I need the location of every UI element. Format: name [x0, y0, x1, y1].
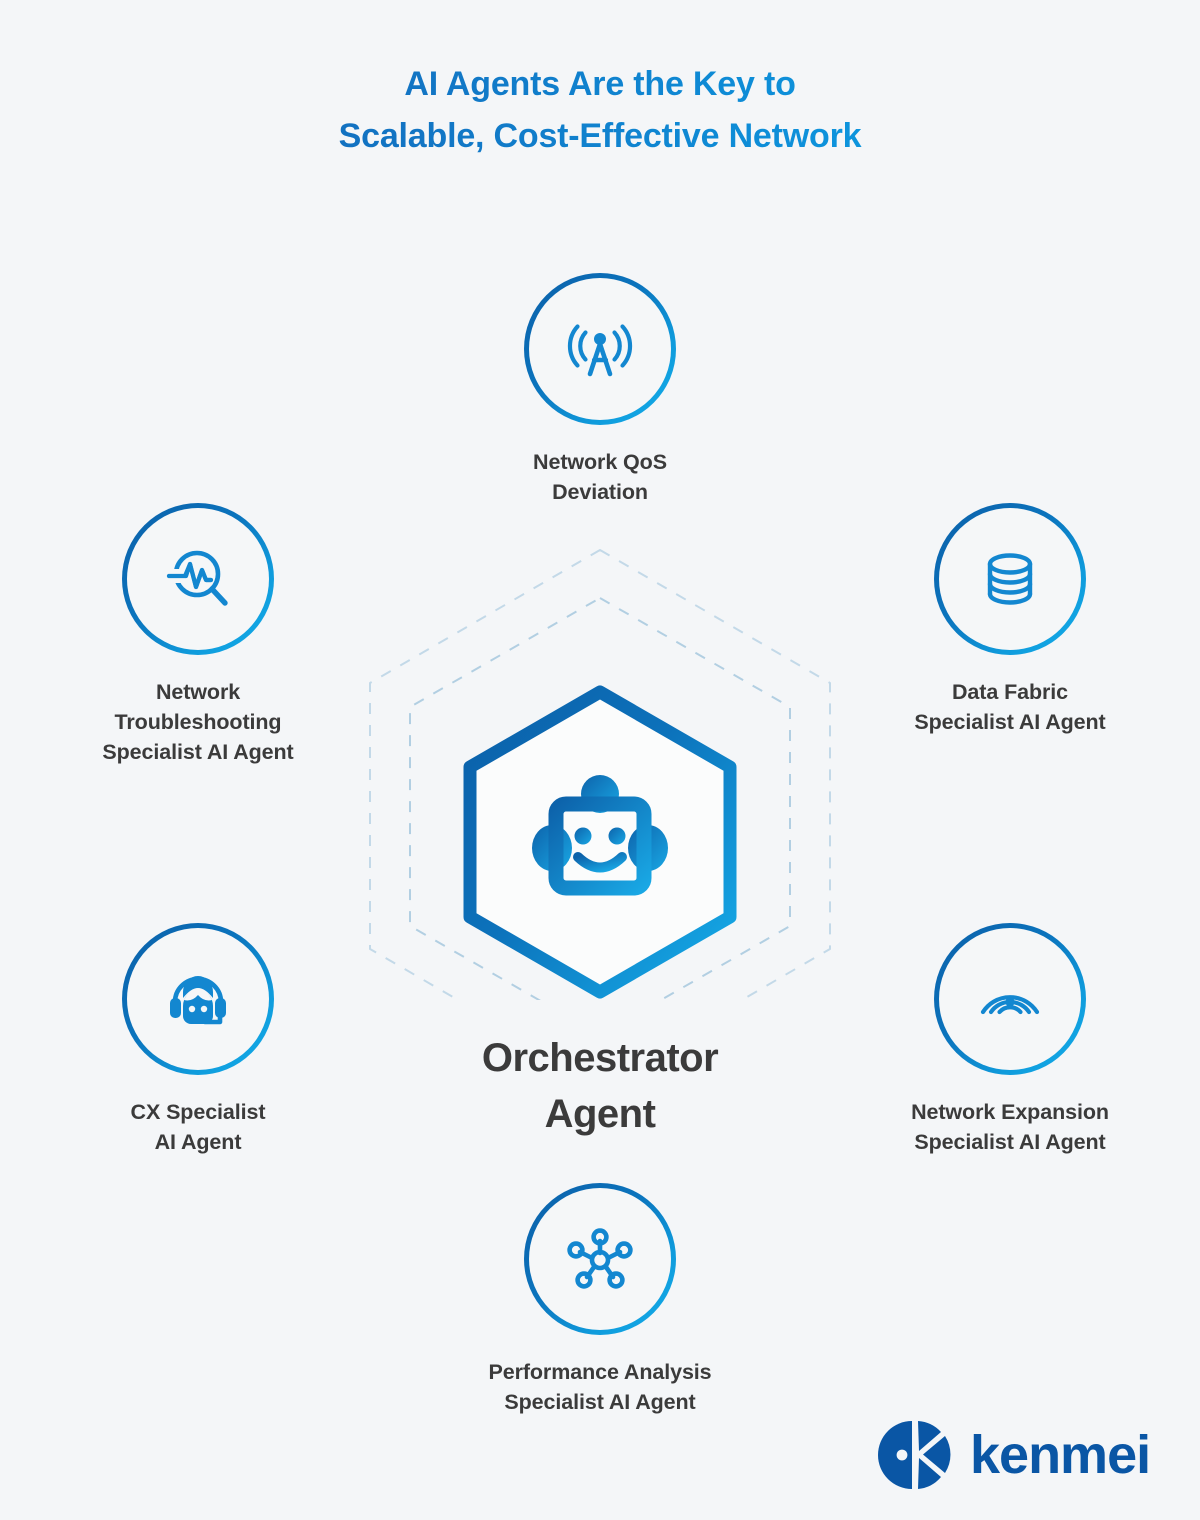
- database-icon: [973, 542, 1047, 616]
- node-label-line-2: Deviation: [440, 477, 760, 507]
- node-label-line-1: Network QoS: [440, 447, 760, 477]
- node-icon-ring: [934, 923, 1086, 1075]
- node-icon-ring: [122, 503, 274, 655]
- orchestrator-hexagon: [470, 692, 730, 992]
- node-label-line-1: Performance Analysis: [440, 1357, 760, 1387]
- node-label-line-1: Data Fabric: [850, 677, 1170, 707]
- node-cx-specialist-ai-agent[interactable]: CX Specialist AI Agent: [38, 923, 358, 1157]
- brand-name: kenmei: [970, 1428, 1150, 1482]
- broadcast-tower-icon: [563, 312, 637, 386]
- node-network-troubleshooting-specialist-ai-agent[interactable]: Network Troubleshooting Specialist AI Ag…: [38, 503, 358, 767]
- network-hub-icon: [563, 1222, 637, 1296]
- orchestrator-agent-label-line-2: Agent: [300, 1086, 900, 1142]
- agent-architecture-diagram: Orchestrator Agent Network Qo: [0, 0, 1200, 1520]
- node-label-line-2: Specialist AI Agent: [850, 707, 1170, 737]
- node-label-line-2: AI Agent: [38, 1127, 358, 1157]
- magnifier-pulse-icon: [161, 542, 235, 616]
- brand-logo: kenmei: [878, 1418, 1150, 1492]
- node-label: Network QoS Deviation: [440, 447, 760, 507]
- node-label: Network Troubleshooting Specialist AI Ag…: [38, 677, 358, 767]
- kenmei-k-mark-icon: [878, 1418, 952, 1492]
- orchestrator-agent-node[interactable]: [330, 530, 870, 1000]
- node-label-line-1: CX Specialist: [38, 1097, 358, 1127]
- signal-waves-icon: [973, 962, 1047, 1036]
- node-network-qos-deviation[interactable]: Network QoS Deviation: [440, 273, 760, 507]
- node-icon-ring: [934, 503, 1086, 655]
- node-label: Performance Analysis Specialist AI Agent: [440, 1357, 760, 1417]
- node-label: Network Expansion Specialist AI Agent: [850, 1097, 1170, 1157]
- node-label: Data Fabric Specialist AI Agent: [850, 677, 1170, 737]
- node-label-line-2: Specialist AI Agent: [440, 1387, 760, 1417]
- node-label-line-1: Network: [38, 677, 358, 707]
- node-data-fabric-specialist-ai-agent[interactable]: Data Fabric Specialist AI Agent: [850, 503, 1170, 737]
- node-label: CX Specialist AI Agent: [38, 1097, 358, 1157]
- node-performance-analysis-specialist-ai-agent[interactable]: Performance Analysis Specialist AI Agent: [440, 1183, 760, 1417]
- node-label-line-1: Network Expansion: [850, 1097, 1170, 1127]
- node-icon-ring: [122, 923, 274, 1075]
- node-icon-ring: [524, 1183, 676, 1335]
- node-label-line-2: Troubleshooting: [38, 707, 358, 737]
- headset-support-icon: [161, 962, 235, 1036]
- node-network-expansion-specialist-ai-agent[interactable]: Network Expansion Specialist AI Agent: [850, 923, 1170, 1157]
- orchestrator-agent-label-line-1: Orchestrator: [300, 1030, 900, 1086]
- node-label-line-3: Specialist AI Agent: [38, 737, 358, 767]
- node-label-line-2: Specialist AI Agent: [850, 1127, 1170, 1157]
- orchestrator-agent-label: Orchestrator Agent: [300, 1030, 900, 1142]
- node-icon-ring: [524, 273, 676, 425]
